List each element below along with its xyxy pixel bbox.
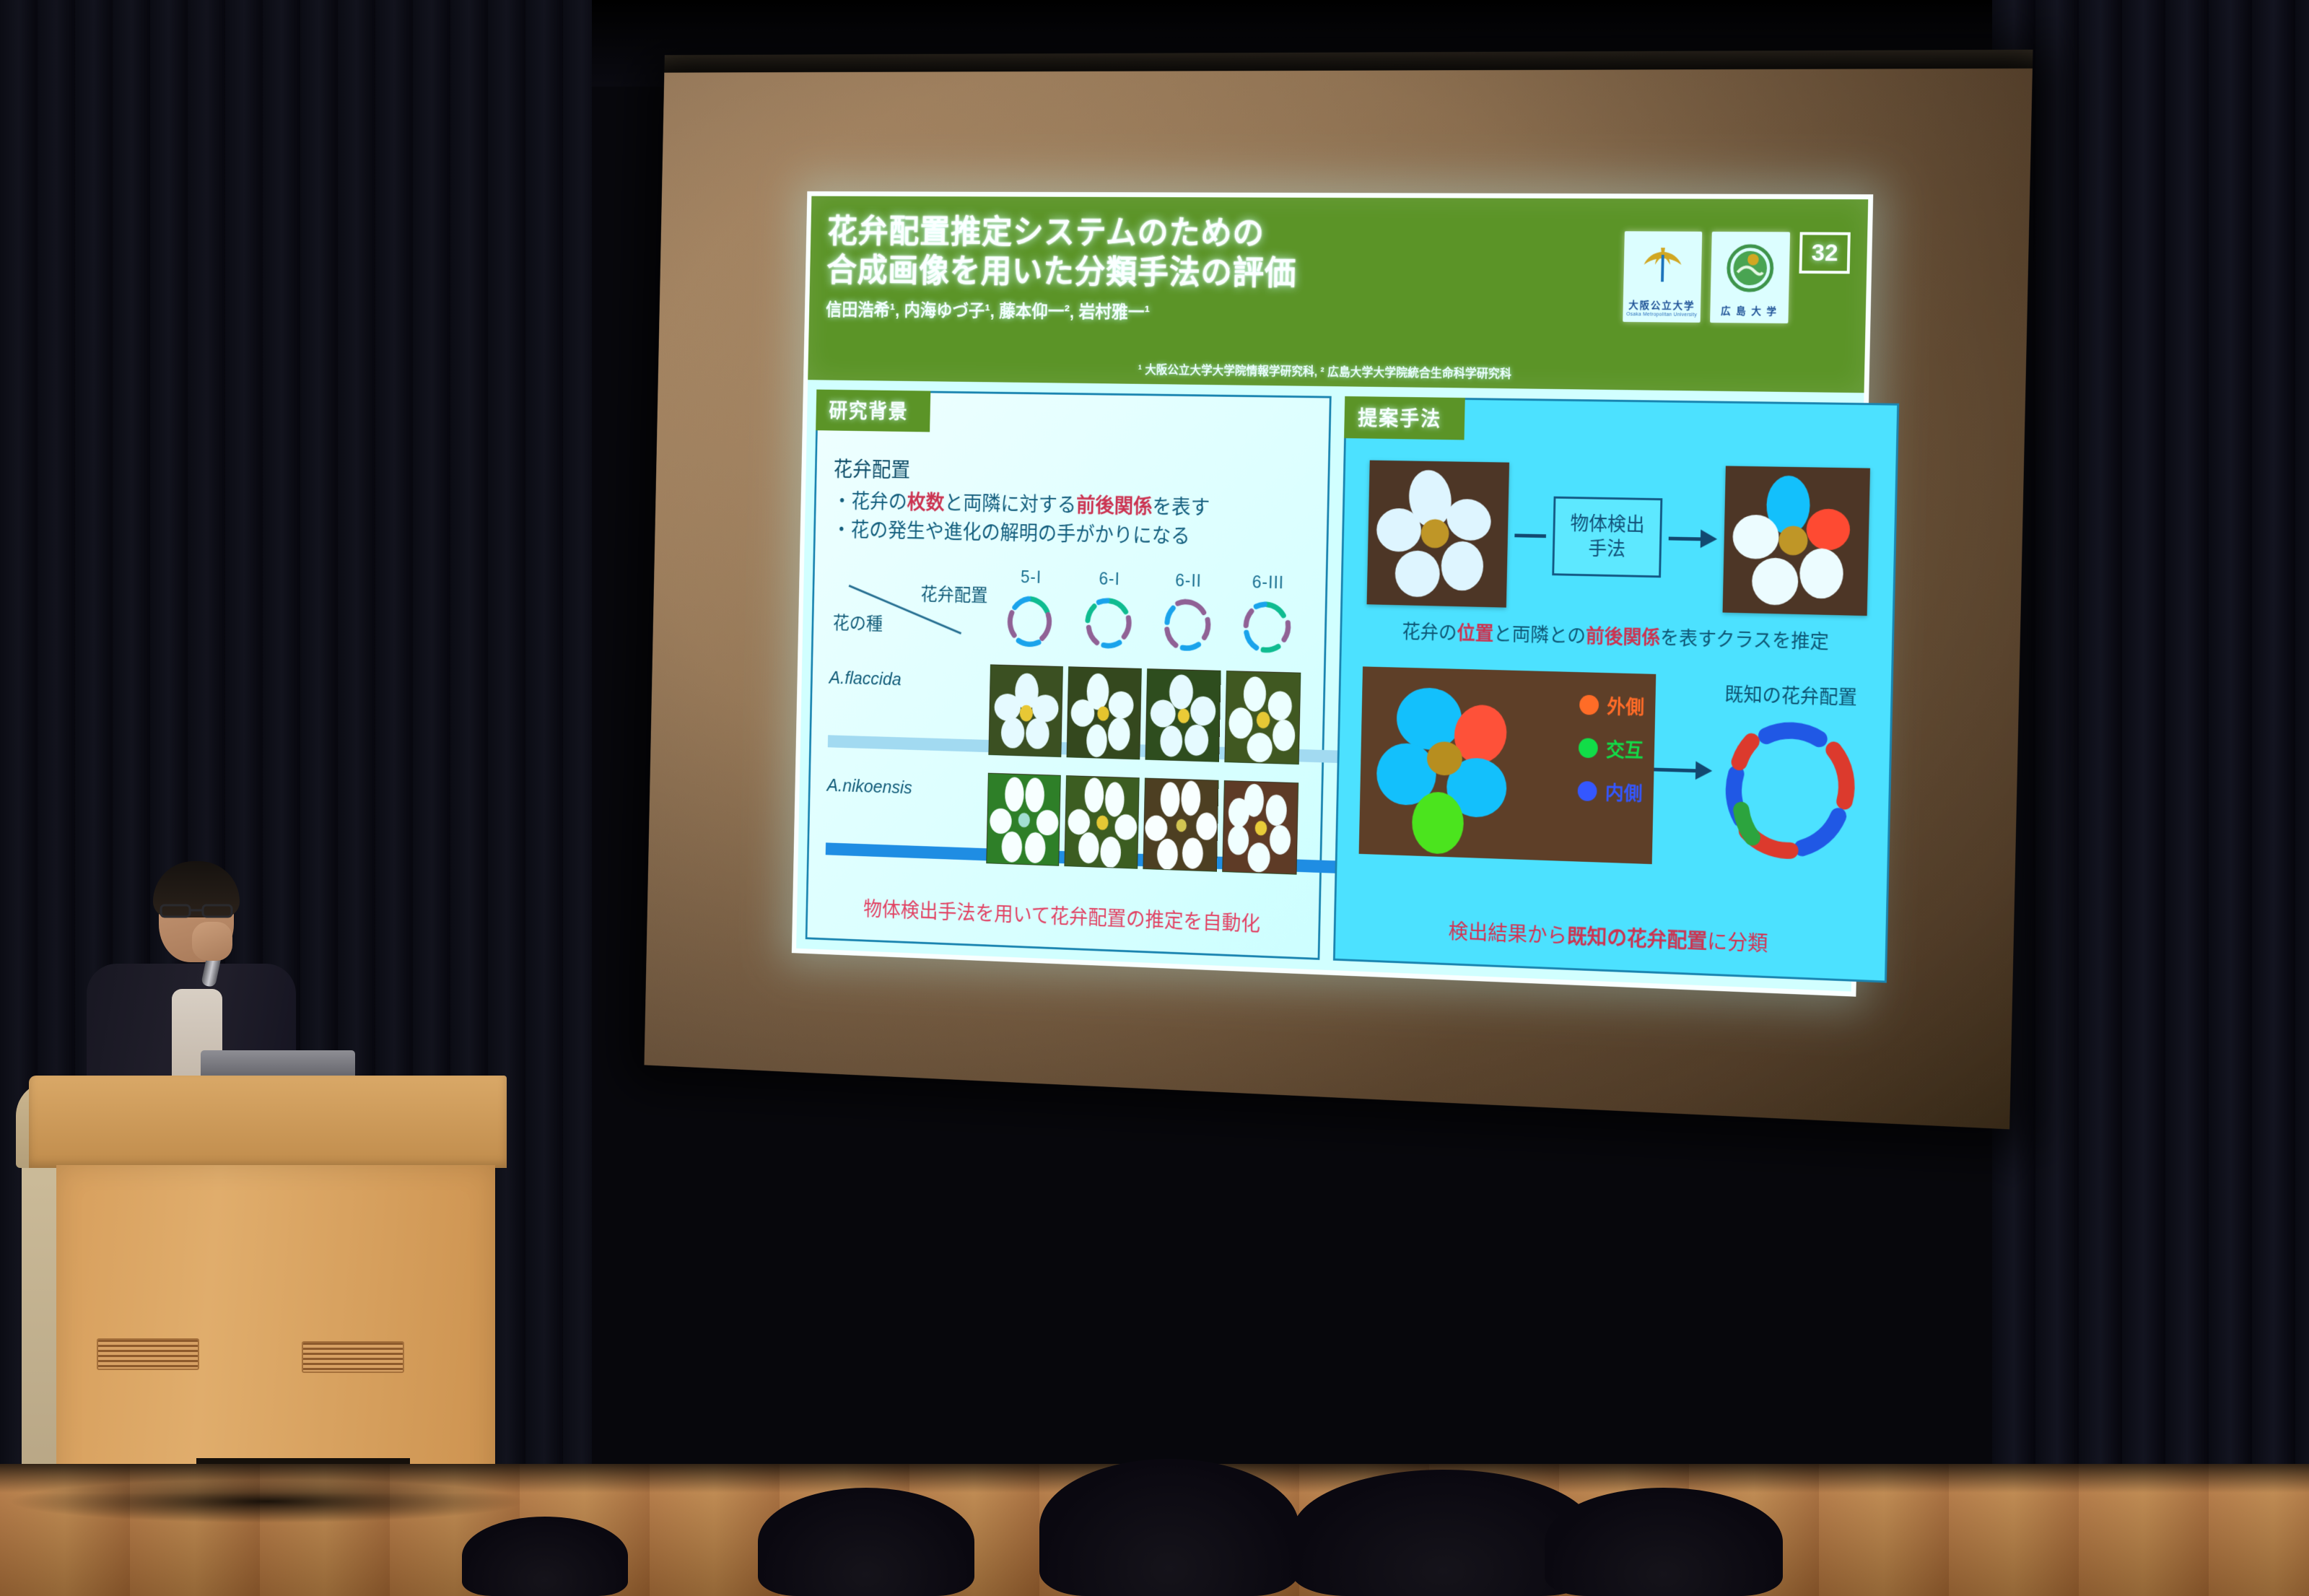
- podium: [16, 1076, 507, 1523]
- audience-head-silhouette: [462, 1517, 628, 1596]
- caption1-suffix: を表すクラスを推定: [1660, 627, 1829, 653]
- caption1-hl2: 前後関係: [1586, 626, 1661, 649]
- ring-diagram-6-II-icon: [1158, 595, 1216, 655]
- classification-arrow: [1654, 760, 1712, 780]
- caption1-mid: と両隣との: [1493, 624, 1586, 647]
- left-panel-footer: 物体検出手法を用いて花弁配置の推定を自動化: [808, 891, 1319, 939]
- arrow-head-icon: [1701, 530, 1718, 549]
- matrix-row-thumbnails-0: [988, 664, 1306, 764]
- logo-osaka-metropolitan-university: 大阪公立大学 Osaka Metropolitan University: [1623, 231, 1702, 323]
- podium-front-panel: [56, 1165, 495, 1501]
- flower-photo-cell: [1143, 778, 1218, 872]
- known-arrangement-group: 既知の花弁配置: [1710, 679, 1868, 869]
- audience-head-silhouette: [1545, 1488, 1783, 1596]
- class-legend: 外側 交互 内側: [1577, 691, 1645, 822]
- pipeline-arrow-in: [1514, 533, 1546, 538]
- logo-hiroshima-university: 広 島 大 学: [1710, 232, 1790, 323]
- matrix-col-label-0: 5-I: [992, 567, 1070, 588]
- classification-row: 外側 交互 内側: [1355, 666, 1873, 871]
- flower-photo-cell: [1067, 666, 1142, 759]
- known-arrangement-ring-icon: [1711, 710, 1868, 865]
- flower-photo-cell: [1145, 668, 1221, 762]
- input-flower-photo: [1367, 461, 1510, 608]
- slide-header: 花弁配置推定システムのための 合成画像を用いた分類手法の評価 信田浩希¹, 内海…: [808, 196, 1868, 393]
- matrix-col-6-III: 6-III: [1226, 572, 1308, 661]
- right-panel-content: 物体検出 手法: [1335, 398, 1897, 981]
- pipeline-arrow-out: [1668, 529, 1717, 549]
- logo-osaka-name: 大阪公立大学: [1628, 298, 1695, 313]
- flower-photo-cell: [1064, 775, 1139, 869]
- matrix-col-label-2: 6-II: [1148, 570, 1228, 592]
- slide-body: 研究背景 花弁配置 ・花弁の枚数と両隣に対する前後関係を表す ・花の発生や進化の…: [796, 380, 1864, 991]
- matrix-row-a-nikoensis: A.nikoensis: [825, 761, 1304, 882]
- bullet-1-mid: と両隣に対する: [944, 492, 1076, 517]
- auditorium-scene: 花弁配置推定システムのための 合成画像を用いた分類手法の評価 信田浩希¹, 内海…: [0, 0, 2309, 1596]
- detection-result-photo: [1723, 466, 1870, 616]
- species-label-0: A.flaccida: [829, 667, 990, 692]
- matrix-col-5-I: 5-I: [990, 567, 1070, 655]
- bullet-1-hl2: 前後関係: [1076, 495, 1153, 519]
- slide-header-right: 大阪公立大学 Osaka Metropolitan University: [1623, 231, 1851, 323]
- slide-title-line1: 花弁配置推定システムのための: [827, 211, 1541, 254]
- legend-item-alternate: 交互: [1579, 733, 1644, 763]
- pipeline-box-line1: 物体検出: [1570, 512, 1645, 538]
- ring-diagram-6-III-icon: [1238, 597, 1296, 658]
- ring-diagram-6-I-icon: [1080, 593, 1138, 654]
- segmented-flower-with-legend: 外側 交互 内側: [1359, 666, 1657, 864]
- projection-screen: 花弁配置推定システムのための 合成画像を用いた分類手法の評価 信田浩希¹, 内海…: [645, 69, 2033, 1130]
- caption1-prefix: 花弁の: [1402, 622, 1457, 644]
- matrix-header-row: 花弁配置 花の種 5-I: [830, 564, 1309, 662]
- matrix-row-a-flaccida: A.flaccida: [828, 653, 1306, 772]
- legend-dot-outer-icon: [1579, 694, 1599, 715]
- right-panel-footer: 検出結果から既知の花弁配置に分類: [1335, 911, 1885, 962]
- legend-label-inner: 内側: [1605, 777, 1642, 806]
- slide-title: 花弁配置推定システムのための 合成画像を用いた分類手法の評価: [826, 211, 1542, 295]
- podium-side-panel: [22, 1161, 59, 1501]
- legend-label-outer: 外側: [1607, 692, 1644, 720]
- hiroshima-emblem-icon: [1711, 232, 1790, 304]
- flower-photo-cell: [986, 773, 1061, 866]
- bullet-1-hl1: 枚数: [907, 492, 944, 514]
- podium-desktop: [29, 1076, 507, 1168]
- caption2-prefix: 検出結果から: [1448, 921, 1567, 949]
- species-label-1: A.nikoensis: [826, 775, 987, 801]
- osaka-palm-icon: [1623, 231, 1702, 298]
- presentation-slide: 花弁配置推定システムのための 合成画像を用いた分類手法の評価 信田浩希¹, 内海…: [792, 191, 1873, 997]
- object-detection-method-box: 物体検出 手法: [1552, 497, 1662, 578]
- left-lead-text: 花弁配置: [833, 452, 1311, 490]
- panel-proposed-method: 提案手法: [1333, 396, 1899, 983]
- left-panel-content: 花弁配置 ・花弁の枚数と両隣に対する前後関係を表す ・花の発生や進化の解明の手が…: [807, 391, 1329, 957]
- matrix-row-axis-label: 花の種: [833, 609, 883, 636]
- bullet-1-prefix: ・花弁の: [832, 491, 907, 514]
- bullet-2-text: ・花の発生や進化の解明の手がかりになる: [832, 519, 1190, 548]
- legend-label-alternate: 交互: [1606, 734, 1644, 763]
- right-caption-1: 花弁の位置と両隣との前後関係を表すクラスを推定: [1359, 615, 1874, 655]
- audience-head-silhouette: [758, 1488, 974, 1596]
- detection-pipeline: 物体検出 手法: [1360, 460, 1877, 616]
- logo-osaka-sub: Osaka Metropolitan University: [1626, 312, 1697, 318]
- stage-curtain-right: [1992, 0, 2309, 1473]
- flower-photo-cell: [988, 664, 1063, 757]
- caption2-suffix: に分類: [1707, 931, 1768, 956]
- panel-research-background: 研究背景 花弁配置 ・花弁の枚数と両隣に対する前後関係を表す ・花の発生や進化の…: [806, 390, 1332, 960]
- arrow-head-icon: [1695, 761, 1713, 780]
- matrix-col-6-II: 6-II: [1147, 570, 1228, 660]
- logo-hiroshima-name: 広 島 大 学: [1721, 304, 1778, 318]
- bullet-1-suffix: を表す: [1152, 496, 1210, 519]
- caption2-hl: 既知の花弁配置: [1567, 925, 1708, 954]
- podium-vent-left: [97, 1338, 199, 1370]
- glasses-icon: [160, 903, 235, 919]
- podium-floor-shadow: [7, 1480, 527, 1523]
- pipeline-box-line2: 手法: [1569, 536, 1644, 562]
- matrix-axis-corner: 花弁配置 花の種: [830, 577, 992, 640]
- slide-title-line2: 合成画像を用いた分類手法の評価: [826, 250, 1540, 295]
- legend-dot-inner-icon: [1578, 780, 1597, 801]
- flower-photo-cell: [1222, 780, 1298, 875]
- legend-dot-alternate-icon: [1579, 738, 1598, 758]
- matrix-col-6-I: 6-I: [1068, 569, 1149, 658]
- slide-page-number: 32: [1799, 232, 1850, 274]
- known-arrangement-title: 既知の花弁配置: [1714, 679, 1868, 710]
- audience-head-silhouette: [1039, 1459, 1299, 1596]
- slide-affiliations: ¹ 大阪公立大学大学院情報学研究科, ² 広島大学大学院統合生命科学研究科: [1138, 359, 1512, 381]
- caption1-hl1: 位置: [1457, 622, 1493, 644]
- legend-item-outer: 外側: [1579, 691, 1645, 720]
- ring-diagram-5-I-icon: [1002, 591, 1059, 652]
- arrangement-matrix: 花弁配置 花の種 5-I: [825, 564, 1308, 882]
- presenter-hand: [192, 922, 232, 961]
- matrix-row-thumbnails-1: [986, 773, 1304, 875]
- legend-item-inner: 内側: [1577, 777, 1643, 806]
- matrix-col-label-1: 6-I: [1070, 569, 1149, 590]
- flower-photo-cell: [1224, 671, 1301, 764]
- podium-vent-right: [302, 1341, 404, 1373]
- matrix-col-label-3: 6-III: [1228, 572, 1308, 593]
